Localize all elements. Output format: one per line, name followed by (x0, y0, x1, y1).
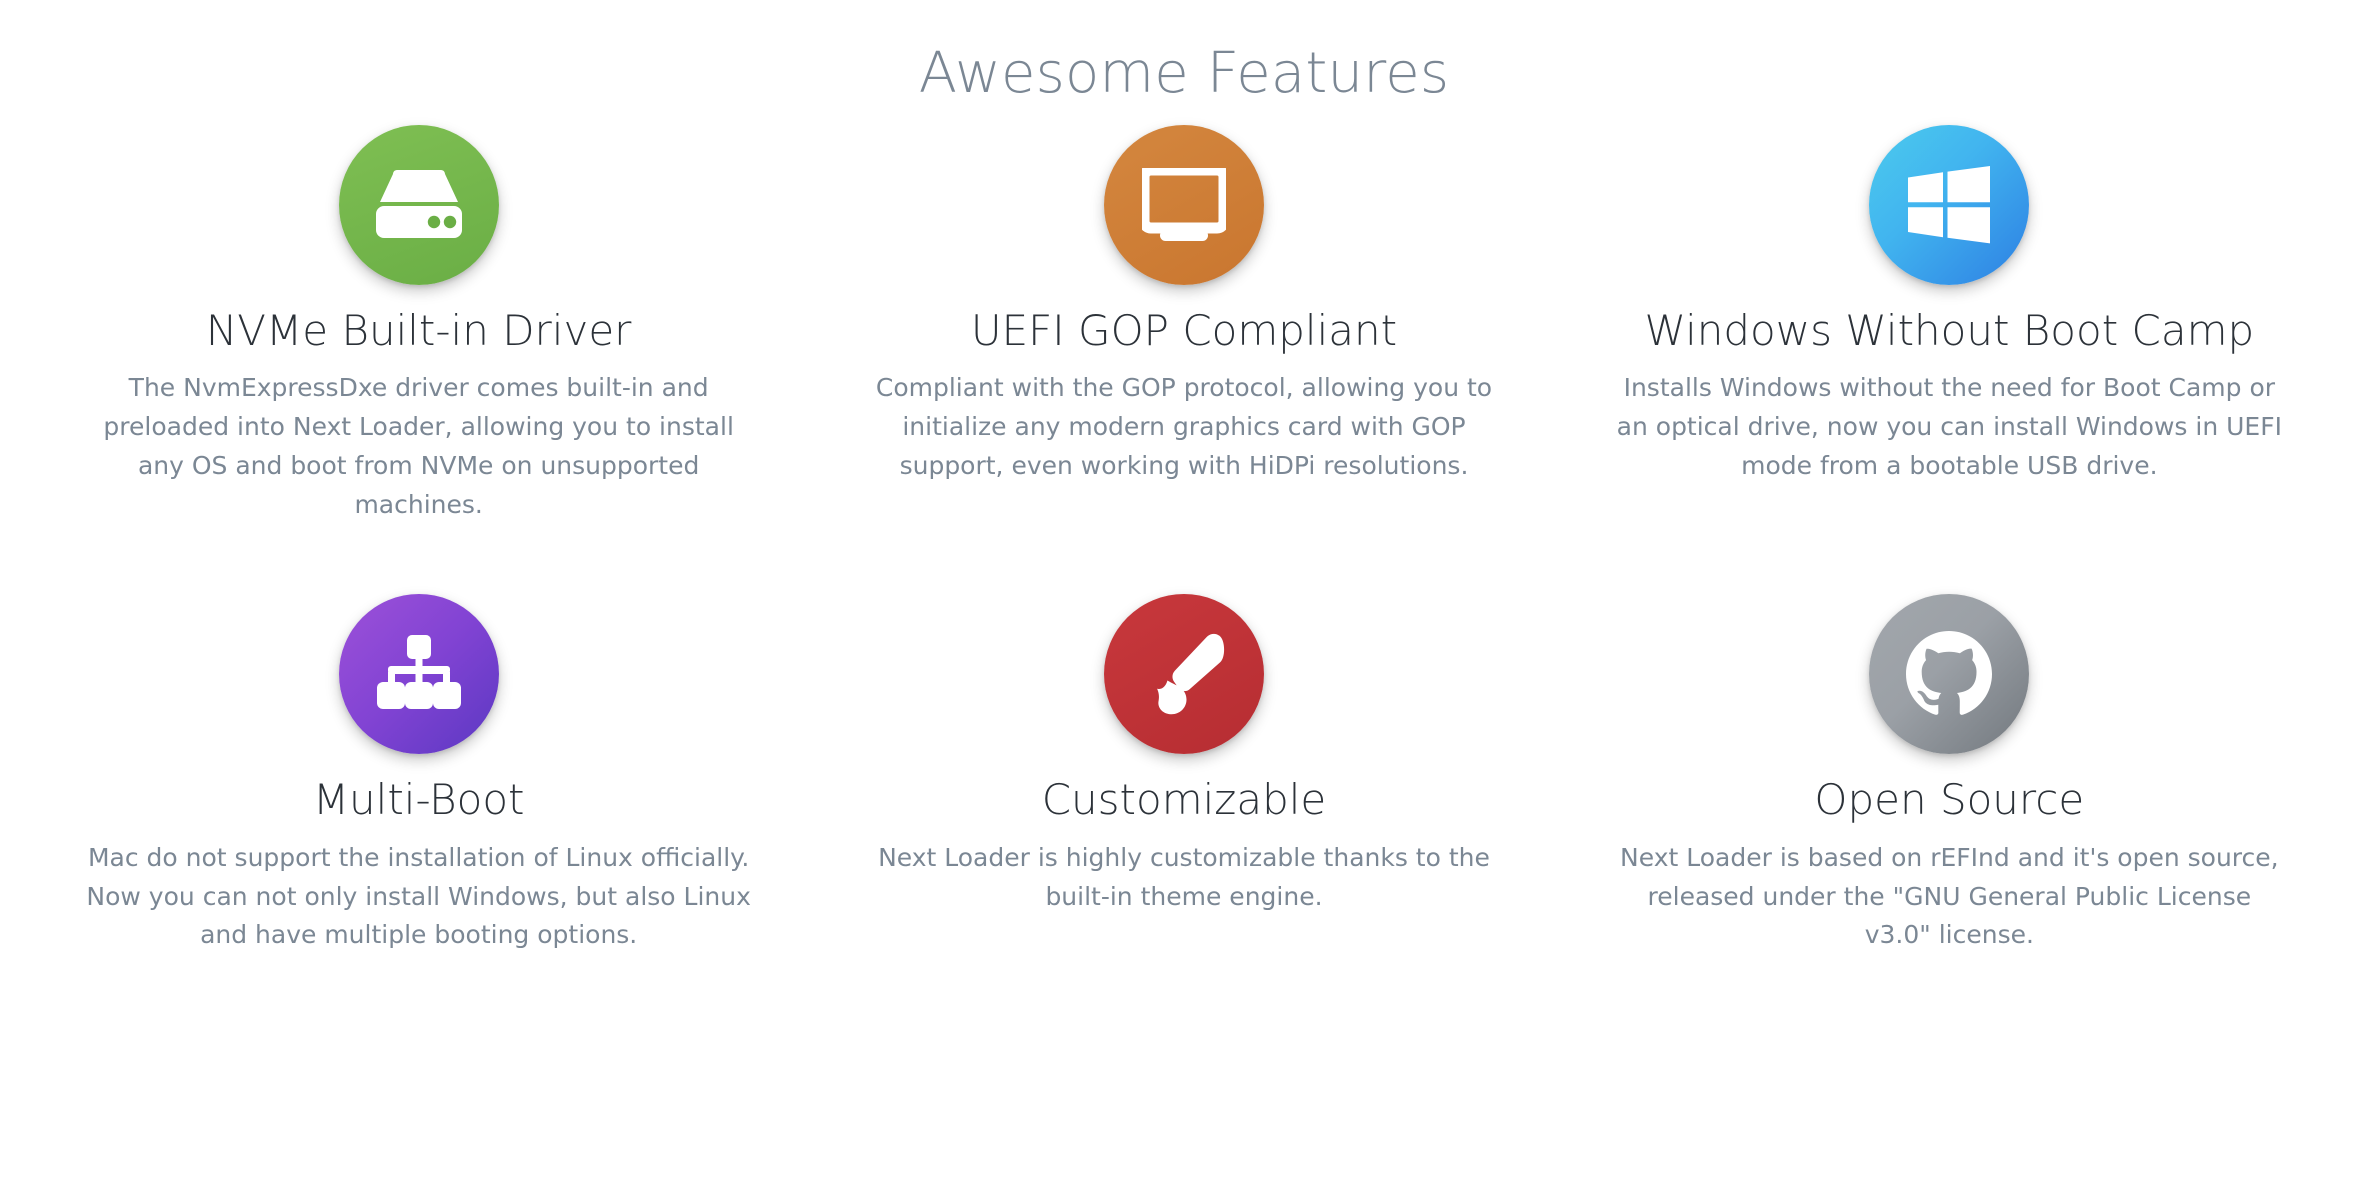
feature-title: Multi-Boot (313, 776, 525, 824)
feature-card-open-source: Open Source Next Loader is based on rEFI… (1567, 594, 2332, 955)
feature-description: Compliant with the GOP protocol, allowin… (847, 369, 1520, 485)
windows-logo-icon (1869, 125, 2029, 285)
hdd-icon (339, 125, 499, 285)
feature-title: NVMe Built-in Driver (206, 307, 632, 355)
feature-card-windows-without-boot-camp: Windows Without Boot Camp Installs Windo… (1567, 125, 2332, 524)
github-logo-icon (1869, 594, 2029, 754)
sitemap-icon (339, 594, 499, 754)
feature-title: Customizable (1042, 776, 1327, 824)
feature-card-customizable: Customizable Next Loader is highly custo… (801, 594, 1566, 955)
feature-description: Installs Windows without the need for Bo… (1613, 369, 2286, 485)
feature-grid-row-2: Multi-Boot Mac do not support the instal… (0, 542, 2368, 955)
feature-title: UEFI GOP Compliant (971, 307, 1397, 355)
paint-brush-icon (1104, 594, 1264, 754)
feature-description: Next Loader is highly customizable thank… (847, 839, 1520, 917)
feature-description: Mac do not support the installation of L… (82, 839, 755, 955)
feature-title: Open Source (1814, 776, 2084, 824)
feature-description: The NvmExpressDxe driver comes built-in … (82, 369, 755, 524)
feature-card-uefi-gop-compliant: UEFI GOP Compliant Compliant with the GO… (801, 125, 1566, 524)
feature-description: Next Loader is based on rEFInd and it's … (1613, 839, 2286, 955)
feature-card-nvme-built-in-driver: NVMe Built-in Driver The NvmExpressDxe d… (36, 125, 801, 524)
page-title: Awesome Features (0, 0, 2368, 107)
desktop-monitor-icon (1104, 125, 1264, 285)
feature-card-multi-boot: Multi-Boot Mac do not support the instal… (36, 594, 801, 955)
feature-grid-row-1: NVMe Built-in Driver The NvmExpressDxe d… (0, 125, 2368, 524)
feature-title: Windows Without Boot Camp (1644, 307, 2254, 355)
features-section: Awesome Features NVMe Built-in Driver Th… (0, 0, 2368, 1184)
